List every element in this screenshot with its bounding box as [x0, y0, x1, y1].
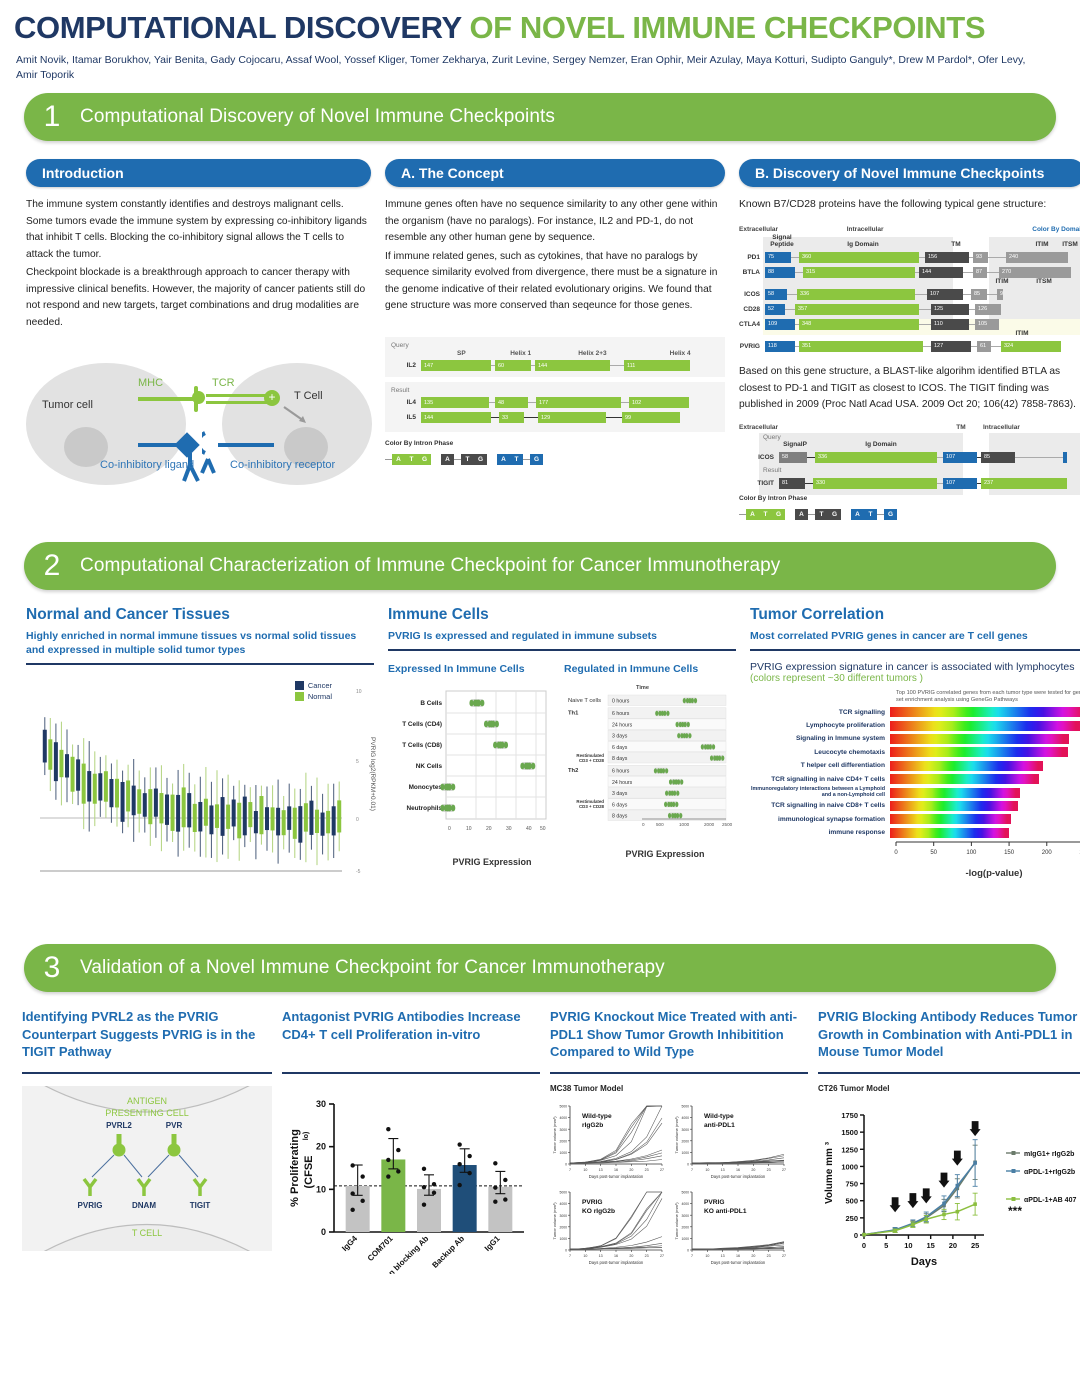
pathway-bar-row: TCR signalling in naive CD8+ T cells — [750, 800, 1080, 811]
svg-text:0: 0 — [687, 1249, 689, 1253]
svg-text:rIgG2b: rIgG2b — [582, 1122, 603, 1129]
svg-text:5: 5 — [884, 1241, 888, 1250]
svg-text:50: 50 — [930, 850, 937, 856]
b-row-pvrig: PVRIG 118 351 127 61 324 — [739, 340, 1080, 352]
svg-text:Days: Days — [911, 1256, 937, 1268]
svg-text:13: 13 — [721, 1168, 725, 1172]
pathway-bar — [890, 828, 1009, 838]
discovery-lead-text: Known B7/CD28 proteins have the followin… — [739, 197, 1080, 214]
svg-text:20: 20 — [629, 1254, 633, 1258]
icos-tigit-figure: Extracellular TM Intracellular Query Sig… — [739, 424, 1080, 520]
mhc-label: MHC — [138, 377, 163, 389]
svg-text:Monocytes: Monocytes — [409, 784, 443, 791]
il2-helix1: 60 — [495, 360, 531, 371]
legend-a-dark-T: T — [461, 454, 474, 465]
svg-text:3000: 3000 — [681, 1214, 689, 1218]
b2-tm-label: TM — [939, 424, 983, 431]
regulated-scatter-svg: Time Naive T cells0 hoursTh16 hours24 ho… — [564, 681, 736, 841]
pathway-label: immune response — [750, 829, 890, 836]
pathway-bar — [890, 788, 1020, 798]
svg-text:0: 0 — [321, 1227, 326, 1237]
tumor-correlation-column: Tumor Correlation Most correlated PVRIG … — [750, 606, 1080, 920]
legend-b-green-T: T — [759, 509, 772, 520]
pd1-ig: 360 — [799, 252, 919, 263]
il4-helix1: 48 — [495, 397, 528, 408]
svg-text:KO rIgG2b: KO rIgG2b — [582, 1208, 615, 1215]
pathway-label: Immunoregulatory interactions between a … — [750, 787, 890, 799]
mc38-svg: 0100020003000400050007101316202327Tumor … — [550, 1096, 808, 1276]
svg-text:Days post-tumor implantation: Days post-tumor implantation — [589, 1260, 644, 1265]
gene-name-il2: IL2 — [391, 362, 421, 369]
b-row-btla: BTLA 88 315 144 87 270 — [739, 266, 1080, 278]
section-number-3: 3 — [24, 951, 80, 985]
svg-text:DNAM: DNAM — [132, 1201, 156, 1210]
svg-text:(CFSE: (CFSE — [303, 1156, 315, 1189]
svg-text:lo): lo) — [303, 1132, 310, 1141]
pathway-label: TCR signalling — [750, 709, 890, 716]
section-banner-3: 3 Validation of a Novel Immune Checkpoin… — [24, 944, 1056, 992]
section-1-columns: Introduction The immune system constantl… — [26, 159, 1054, 520]
gene-name-il5: IL5 — [391, 414, 421, 421]
pathway-label: TCR signalling in naive CD4+ T cells — [750, 776, 890, 783]
svg-text:3000: 3000 — [559, 1128, 567, 1132]
concept-paragraph-1: Immune genes often have no sequence simi… — [385, 197, 725, 247]
pathway-bar-row: Lymphocyte proliferation — [750, 720, 1080, 731]
svg-text:30: 30 — [506, 826, 512, 832]
b-row-ctla4: CTLA4 109 348 110 105 — [739, 318, 1080, 330]
regulated-immune-panel: Regulated in Immune Cells Time Naive T c… — [564, 663, 736, 867]
pathway-bar — [890, 747, 1068, 757]
svg-text:3 days: 3 days — [612, 791, 628, 797]
il5-sp: 144 — [421, 412, 491, 423]
svg-text:Th2: Th2 — [568, 768, 578, 774]
svg-text:anti-PDL1: anti-PDL1 — [704, 1122, 735, 1129]
b2-tigit-ig: 330 — [813, 478, 937, 489]
b2-row-tigit: TIGIT 81 330 107 237 — [739, 477, 1080, 489]
pathway-bar-row: Leucocyte chemotaxis — [750, 747, 1080, 758]
immune-cells-subtitle: PVRIG Is expressed and regulated in immu… — [388, 629, 736, 643]
t-cell-label: T Cell — [294, 390, 323, 402]
legend-b-blue-T: T — [864, 509, 877, 520]
cd28-ig: 357 — [795, 304, 919, 315]
section-banner-2: 2 Computational Characterization of Immu… — [24, 542, 1056, 590]
icos-ic2: 9 — [997, 289, 1003, 300]
b2-row-icos: ICOS 58 336 107 85 — [739, 451, 1080, 463]
btla-ic1: 87 — [973, 267, 987, 278]
tcr-arm-bottom — [206, 401, 268, 404]
col-itsm-2: ITSM — [1023, 278, 1065, 285]
b2-name-tigit: TIGIT — [739, 480, 779, 487]
normal-cancer-title: Normal and Cancer Tissues — [26, 606, 374, 624]
svg-text:1000: 1000 — [679, 822, 690, 827]
tumor-correlation-bars: TCR signallingLymphocyte proliferationSi… — [750, 707, 1080, 839]
mhc-stalk — [138, 397, 200, 401]
svg-text:7: 7 — [691, 1254, 693, 1258]
ct26-svg: 025050075010001250150017500510152025mIgG… — [818, 1095, 1080, 1277]
cd28-tm: 125 — [931, 304, 969, 315]
b-row-cd28: CD28 52 357 125 126 — [739, 303, 1080, 315]
ct26-title: CT26 Tumor Model — [818, 1084, 1080, 1093]
col-itim-2: ITIM — [981, 278, 1023, 285]
svg-text:2000: 2000 — [559, 1226, 567, 1230]
mc38-column: PVRIG Knockout Mice Treated with anti-PD… — [550, 1008, 808, 1282]
svg-text:7: 7 — [569, 1254, 571, 1258]
b-name-cd28: CD28 — [739, 306, 765, 313]
section-heading-2: Computational Characterization of Immune… — [80, 555, 780, 577]
discovery-column: B. Discovery of Novel Immune Checkpoints… — [739, 159, 1080, 520]
proliferation-svg: 0102030IgG4COM701Non blocking AbBackup A… — [282, 1084, 540, 1274]
legend-b-blue-G: G — [884, 509, 897, 520]
concept-column: A. The Concept Immune genes often have n… — [385, 159, 725, 520]
legend-b-dark-G: G — [828, 509, 841, 520]
svg-text:COM701: COM701 — [366, 1234, 395, 1263]
svg-text:1000: 1000 — [559, 1151, 567, 1155]
svg-text:6 hours: 6 hours — [612, 711, 630, 717]
pathway-bar-row: T helper cell differentiation — [750, 760, 1080, 771]
svg-text:500: 500 — [845, 1197, 858, 1206]
panel3-title-1: Identifying PVRL2 as the PVRIG Counterpa… — [22, 1008, 272, 1064]
svg-text:αPDL-1+rIgG2b: αPDL-1+rIgG2b — [1024, 1169, 1075, 1176]
legend-a-green-G: G — [418, 454, 431, 465]
svg-text:Volume mm ³: Volume mm ³ — [824, 1142, 835, 1205]
section-heading-1: Computational Discovery of Novel Immune … — [80, 106, 555, 128]
svg-text:20: 20 — [751, 1168, 755, 1172]
legend-a-green-T: T — [405, 454, 418, 465]
svg-text:24 hours: 24 hours — [612, 723, 633, 729]
b2-col-ig: Ig Domain — [811, 441, 951, 448]
tc-lead: PVRIG expression signature in cancer is … — [750, 661, 1080, 673]
svg-text:24 hours: 24 hours — [612, 780, 633, 786]
svg-text:8 days: 8 days — [612, 814, 628, 820]
section-number-2: 2 — [24, 549, 80, 583]
svg-text:2000: 2000 — [681, 1140, 689, 1144]
svg-text:3000: 3000 — [559, 1214, 567, 1218]
pathway-bar — [890, 801, 1018, 811]
svg-text:Neutrophils: Neutrophils — [406, 805, 442, 812]
svg-text:Backup Ab: Backup Ab — [430, 1234, 466, 1270]
ctla4-ig: 348 — [799, 319, 919, 330]
svg-text:T Cells (CD8): T Cells (CD8) — [402, 742, 442, 749]
pathway-bar — [890, 814, 1011, 824]
ctla4-signal: 109 — [765, 319, 795, 330]
page-title: COMPUTATIONAL DISCOVERY OF NOVEL IMMUNE … — [14, 12, 1068, 45]
col-helix1: Helix 1 — [498, 350, 544, 357]
tc-note: Top 100 PVRIG correlated genes from each… — [896, 690, 1080, 705]
svg-text:6 days: 6 days — [612, 802, 628, 808]
pathway-label: Lymphocyte proliferation — [750, 722, 890, 729]
svg-text:0: 0 — [448, 826, 451, 832]
svg-text:Days post-tumor implantation: Days post-tumor implantation — [589, 1174, 644, 1179]
title-part-1: COMPUTATIONAL DISCOVERY — [14, 10, 461, 45]
gene-row-il5: IL5 144 33 129 99 — [391, 412, 719, 424]
col-itsm-1: ITSM — [1055, 235, 1080, 249]
il2-sp: 147 — [421, 360, 491, 371]
col-tm: TM — [927, 235, 985, 249]
svg-text:PVRIG: PVRIG — [582, 1199, 603, 1206]
apc-tcell-diagram: ANTIGEN PRESENTING CELL T CELL PVRL2 PVR — [22, 1086, 272, 1251]
svg-text:23: 23 — [767, 1254, 771, 1258]
svg-text:7: 7 — [691, 1168, 693, 1172]
expressed-title: Expressed In Immune Cells — [388, 663, 556, 675]
icos-signal: 58 — [765, 289, 787, 300]
pathway-bar — [890, 761, 1043, 771]
pathway-bar-row: immune response — [750, 827, 1080, 838]
icos-ic1: 85 — [971, 289, 987, 300]
svg-text:13: 13 — [599, 1168, 603, 1172]
pathway-bar-row: TCR signalling — [750, 707, 1080, 718]
svg-text:Tumor volume (mm³): Tumor volume (mm³) — [674, 1202, 679, 1240]
svg-text:PVRL2: PVRL2 — [106, 1121, 132, 1130]
ct26-tumor-chart: CT26 Tumor Model 02505007501000125015001… — [818, 1084, 1080, 1282]
cd28-ic1: 126 — [975, 304, 1001, 315]
tc-x-label: -log(p-value) — [890, 868, 1080, 879]
b2-icos-ig: 336 — [815, 452, 937, 463]
expressed-immune-panel: Expressed In Immune Cells B CellsT Cells… — [388, 663, 556, 867]
svg-text:23: 23 — [645, 1254, 649, 1258]
legend-a-blue-A: A — [497, 454, 510, 465]
svg-text:0: 0 — [642, 822, 645, 827]
il4-helix23: 177 — [536, 397, 621, 408]
col-signal-peptide: Signal Peptide — [765, 235, 799, 249]
tc-axis-svg: 050100150200250 — [750, 841, 1080, 867]
pvrig-ig: 351 — [799, 341, 923, 352]
svg-text:10: 10 — [583, 1168, 587, 1172]
svg-text:αPDL-1+AB 407: αPDL-1+AB 407 — [1024, 1197, 1076, 1204]
svg-text:20: 20 — [751, 1254, 755, 1258]
tumor-cell-label: Tumor cell — [42, 399, 93, 411]
svg-text:Tumor volume (mm³): Tumor volume (mm³) — [552, 1202, 557, 1240]
b2-icos-ic: 85 — [981, 452, 1015, 463]
svg-text:0: 0 — [862, 1241, 866, 1250]
svg-text:PVR: PVR — [166, 1121, 183, 1130]
svg-text:0: 0 — [356, 817, 359, 823]
title-part-2: OF NOVEL IMMUNE CHECKPOINTS — [469, 10, 985, 45]
legend-cancer: Cancer — [308, 681, 332, 690]
svg-text:1500: 1500 — [841, 1128, 858, 1137]
svg-text:16: 16 — [614, 1254, 618, 1258]
svg-text:CD3 + CD28: CD3 + CD28 — [579, 758, 605, 763]
section-heading-3: Validation of a Novel Immune Checkpoint … — [80, 957, 665, 979]
legend-b-blue-A: A — [851, 509, 864, 520]
legend-title-b: Color By Intron Phase — [739, 495, 1080, 502]
svg-text:Wild-type: Wild-type — [582, 1113, 612, 1120]
intro-column: Introduction The immune system constantl… — [26, 159, 371, 520]
cd28-signal: 52 — [765, 304, 785, 315]
svg-text:23: 23 — [767, 1168, 771, 1172]
svg-text:4000: 4000 — [681, 1203, 689, 1207]
col-ig-domain: Ig Domain — [799, 235, 927, 249]
svg-text:1750: 1750 — [841, 1111, 858, 1120]
svg-text:25: 25 — [971, 1241, 979, 1250]
svg-text:0: 0 — [894, 850, 898, 856]
coinhibitory-ligand-label: Co-inhibitory ligand — [100, 459, 210, 473]
svg-text:4000: 4000 — [681, 1117, 689, 1121]
intro-paragraph-2: Checkpoint blockade is a breakthrough ap… — [26, 265, 371, 331]
svg-text:30: 30 — [316, 1099, 326, 1109]
pathway-bar-row: TCR signalling in naive CD4+ T cells — [750, 774, 1080, 785]
svg-text:10: 10 — [705, 1168, 709, 1172]
col-helix23: Helix 2+3 — [544, 350, 642, 357]
pathway-bar-row: Immunoregulatory interactions between a … — [750, 787, 1080, 798]
svg-text:5000: 5000 — [681, 1191, 689, 1195]
svg-text:20: 20 — [949, 1241, 957, 1250]
svg-text:3000: 3000 — [681, 1128, 689, 1132]
svg-text:10: 10 — [316, 1185, 326, 1195]
pvrig-signal: 118 — [765, 341, 795, 352]
svg-text:10: 10 — [904, 1241, 912, 1250]
svg-text:1000: 1000 — [841, 1163, 858, 1172]
pathway-bar — [890, 734, 1069, 744]
tcr-arm-top — [206, 394, 268, 397]
col-itim-1: ITIM — [1029, 235, 1055, 249]
il2-gene-structure-figure: Query SP Helix 1 Helix 2+3 Helix 4 IL2 1… — [385, 337, 725, 377]
expressed-scatter-svg: B CellsT Cells (CD4)T Cells (CD8)NK Cell… — [388, 689, 556, 849]
result-label: Result — [391, 387, 719, 394]
svg-text:750: 750 — [845, 1180, 858, 1189]
btla-ig: 315 — [803, 267, 915, 278]
svg-text:16: 16 — [614, 1168, 618, 1172]
svg-text:16: 16 — [736, 1168, 740, 1172]
svg-text:50: 50 — [540, 826, 546, 832]
b-intracellular-label: Intracellular — [847, 226, 884, 233]
tc-lead2: (colors represent ~30 different tumors ) — [750, 673, 1080, 684]
legend-b-dark-A: A — [795, 509, 808, 520]
col-sp: SP — [425, 350, 498, 357]
legend-normal: Normal — [308, 692, 332, 701]
svg-text:16: 16 — [736, 1254, 740, 1258]
svg-text:40: 40 — [526, 826, 532, 832]
query-label: Query — [391, 342, 719, 349]
svg-text:4000: 4000 — [559, 1203, 567, 1207]
proliferation-column: Antagonist PVRIG Antibodies Increase CD4… — [282, 1008, 540, 1282]
svg-text:10: 10 — [583, 1254, 587, 1258]
tumor-tcell-diagram: + MHC TCR Tumor cell T Cell — [26, 353, 371, 493]
b7cd28-gene-structure-figure: Extracellular Intracellular Color By Dom… — [739, 226, 1080, 353]
b-extracellular-label: Extracellular — [739, 226, 778, 233]
svg-text:TIGIT: TIGIT — [190, 1201, 211, 1210]
ct26-column: PVRIG Blocking Antibody Reduces Tumor Gr… — [818, 1008, 1080, 1282]
svg-text:5000: 5000 — [559, 1191, 567, 1195]
b2-icos-signal: 58 — [779, 452, 807, 463]
svg-text:5000: 5000 — [681, 1105, 689, 1109]
b2-result-label: Result — [739, 463, 1080, 474]
svg-text:Wild-type: Wild-type — [704, 1113, 734, 1120]
il5-helix4: 99 — [622, 412, 680, 423]
svg-text:2500: 2500 — [722, 822, 733, 827]
svg-text:0: 0 — [565, 1249, 567, 1253]
section-3-columns: Identifying PVRL2 as the PVRIG Counterpa… — [22, 1008, 1058, 1282]
ctla4-tm: 110 — [931, 319, 969, 330]
legend-b-dark-T: T — [815, 509, 828, 520]
svg-text:8 days: 8 days — [612, 756, 628, 762]
regulated-x-label: PVRIG Expression — [594, 849, 736, 859]
b2-intracellular-label: Intracellular — [983, 424, 1020, 431]
b2-col-signalp: SignalP — [779, 441, 811, 448]
svg-text:0 hours: 0 hours — [612, 699, 630, 705]
pathway-label: T helper cell differentiation — [750, 762, 890, 769]
svg-text:Tumor volume (mm³): Tumor volume (mm³) — [552, 1116, 557, 1154]
il5-helix1: 33 — [499, 412, 524, 423]
svg-text:27: 27 — [660, 1168, 664, 1172]
svg-text:1000: 1000 — [681, 1151, 689, 1155]
icos-tm: 107 — [927, 289, 963, 300]
svg-text:7: 7 — [569, 1168, 571, 1172]
svg-text:27: 27 — [782, 1254, 786, 1258]
section-2-columns: Normal and Cancer Tissues Highly enriche… — [26, 606, 1054, 920]
svg-text:6 days: 6 days — [612, 745, 628, 751]
legend-a-blue-G: G — [530, 454, 543, 465]
svg-text:6 hours: 6 hours — [612, 769, 630, 775]
svg-text:IgG4: IgG4 — [340, 1234, 359, 1253]
legend-a-blue-T: T — [510, 454, 523, 465]
pathway-label: Signaling in Immune system — [750, 735, 890, 742]
pd1-ic2: 240 — [1006, 252, 1068, 263]
svg-text:NK Cells: NK Cells — [416, 763, 443, 770]
ctla4-ic1: 105 — [975, 319, 999, 330]
legend-a-dark-G: G — [474, 454, 487, 465]
pvrig-ic2: 324 — [1001, 341, 1061, 352]
pathway-bar-row: Signaling in Immune system — [750, 733, 1080, 744]
svg-text:Tumor volume (mm³): Tumor volume (mm³) — [674, 1116, 679, 1154]
svg-text:1000: 1000 — [681, 1237, 689, 1241]
svg-text:20: 20 — [486, 826, 492, 832]
svg-text:0: 0 — [854, 1231, 858, 1240]
b-name-pd1: PD1 — [739, 254, 765, 261]
antigen-dot — [192, 391, 205, 404]
activation-plus-icon: + — [264, 390, 280, 406]
pvrig-tm: 127 — [931, 341, 971, 352]
normal-cancer-column: Normal and Cancer Tissues Highly enriche… — [26, 606, 374, 920]
il2-helix23: 144 — [535, 360, 610, 371]
svg-text:Days post-tumor implantation: Days post-tumor implantation — [711, 1174, 766, 1179]
legend-a-green-A: A — [392, 454, 405, 465]
activation-arrow-icon — [282, 405, 312, 427]
icos-ig: 336 — [797, 289, 915, 300]
svg-text:27: 27 — [782, 1168, 786, 1172]
boxplot-svg: 10 5 0 -5 — [26, 675, 374, 925]
svg-text:B Cells: B Cells — [420, 700, 442, 707]
receptor-stalk — [218, 443, 274, 447]
svg-text:5000: 5000 — [559, 1105, 567, 1109]
svg-text:200: 200 — [1042, 850, 1053, 856]
il2-helix4: 111 — [624, 360, 690, 371]
immune-cells-title: Immune Cells — [388, 606, 736, 624]
discovery-paragraph: Based on this gene structure, a BLAST-li… — [739, 364, 1080, 414]
b2-tigit-signal: 81 — [779, 478, 805, 489]
b-name-pvrig: PVRIG — [739, 343, 765, 350]
b2-extracellular-label: Extracellular — [739, 424, 939, 431]
svg-text:T CELL: T CELL — [132, 1228, 162, 1238]
pathway-bar — [890, 707, 1080, 717]
col-helix4: Helix 4 — [641, 350, 719, 357]
svg-text:PRESENTING CELL: PRESENTING CELL — [105, 1108, 189, 1118]
svg-text:27: 27 — [660, 1254, 664, 1258]
svg-text:-5: -5 — [356, 869, 361, 875]
intron-phase-legend-b: Color By Intron Phase A T G A T G — [739, 495, 1080, 520]
svg-text:% Proliferating: % Proliferating — [289, 1130, 301, 1208]
pathway-label: immunological synapse formation — [750, 816, 890, 823]
pathway-bar-row: immunological synapse formation — [750, 814, 1080, 825]
svg-text:250: 250 — [845, 1214, 858, 1223]
boxplot-y-label: PVRIG log2(RPKM+0.01) — [369, 737, 376, 811]
svg-text:5: 5 — [356, 759, 359, 765]
poster-root: COMPUTATIONAL DISCOVERY OF NOVEL IMMUNE … — [0, 0, 1080, 1393]
pathway-bar — [890, 774, 1039, 784]
concept-paragraph-2: If immune related genes, such as cytokin… — [385, 249, 725, 315]
svg-text:23: 23 — [645, 1168, 649, 1172]
b2-tigit-tm: 107 — [943, 478, 977, 489]
legend-title-a: Color By Intron Phase — [385, 440, 725, 447]
